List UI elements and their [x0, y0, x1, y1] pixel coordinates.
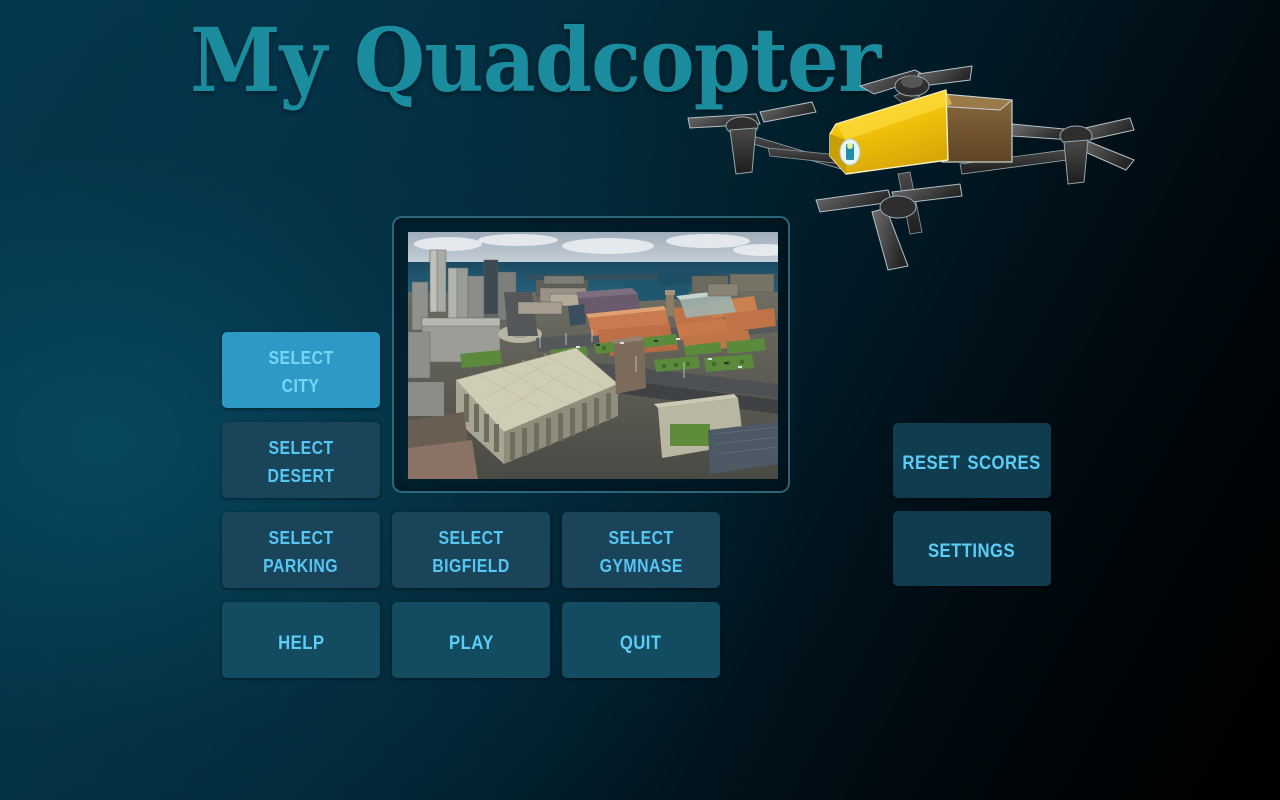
button-label: Settings [928, 534, 1015, 563]
button-select-parking[interactable]: Select Parking [222, 512, 380, 588]
button-label-line1: Select [268, 342, 333, 370]
level-preview-frame [392, 216, 790, 493]
button-help[interactable]: Help [222, 602, 380, 678]
button-label-line1: Select [268, 432, 333, 460]
button-label-line2: Gymnase [599, 550, 682, 578]
button-label-line1: Play [449, 626, 494, 655]
button-reset-scores[interactable]: Reset Scores [893, 423, 1051, 498]
button-label-line1: Select [608, 522, 673, 550]
button-select-bigfield[interactable]: Select BigField [392, 512, 550, 588]
button-label-line1: Help [278, 626, 324, 655]
level-preview-image [408, 232, 778, 479]
button-label-line1: Quit [620, 626, 662, 655]
button-label-line2: BigField [432, 550, 509, 578]
button-quit[interactable]: Quit [562, 602, 720, 678]
button-select-city[interactable]: Select City [222, 332, 380, 408]
button-settings[interactable]: Settings [893, 511, 1051, 586]
button-label: Reset Scores [903, 446, 1041, 475]
button-select-gymnase[interactable]: Select Gymnase [562, 512, 720, 588]
button-label-line2: City [282, 370, 320, 398]
button-play[interactable]: Play [392, 602, 550, 678]
button-label-line2: Desert [268, 460, 335, 488]
button-label-line1: Select [268, 522, 333, 550]
game-main-menu-screen: My Quadcopter [0, 0, 1280, 800]
button-select-desert[interactable]: Select Desert [222, 422, 380, 498]
button-label-line2: Parking [264, 550, 339, 578]
button-label-line1: Select [438, 522, 503, 550]
